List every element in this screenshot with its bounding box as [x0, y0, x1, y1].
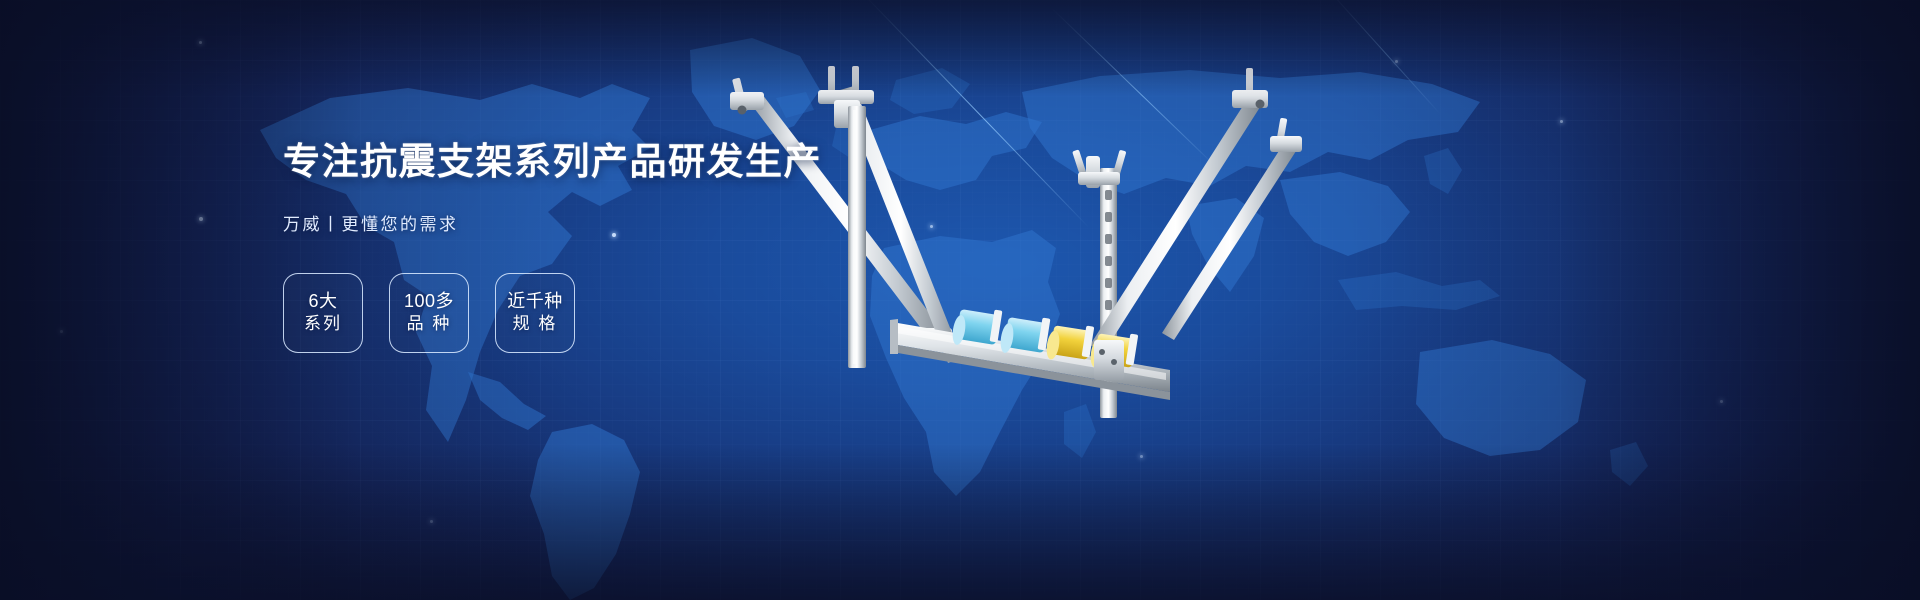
feature-badges: 6大 系列 100多 品 种 近千种 规 格	[283, 273, 803, 353]
badge-varieties-line2: 品 种	[407, 313, 452, 335]
banner-subline: 万威丨更懂您的需求	[283, 210, 803, 235]
badge-varieties[interactable]: 100多 品 种	[389, 273, 469, 353]
badge-specifications-line1: 近千种	[507, 290, 563, 313]
badge-series-line2: 系列	[304, 313, 342, 335]
badge-specifications[interactable]: 近千种 规 格	[495, 273, 575, 353]
badge-specifications-line2: 规 格	[513, 313, 558, 335]
banner-copy: 专注抗震支架系列产品研发生产 万威丨更懂您的需求 6大 系列 100多 品 种 …	[283, 140, 803, 353]
hero-banner: 专注抗震支架系列产品研发生产 万威丨更懂您的需求 6大 系列 100多 品 种 …	[0, 0, 1920, 600]
badge-varieties-line1: 100多	[404, 290, 454, 313]
banner-headline: 专注抗震支架系列产品研发生产	[283, 140, 803, 184]
badge-series-line1: 6大	[308, 290, 337, 313]
badge-series[interactable]: 6大 系列	[283, 273, 363, 353]
